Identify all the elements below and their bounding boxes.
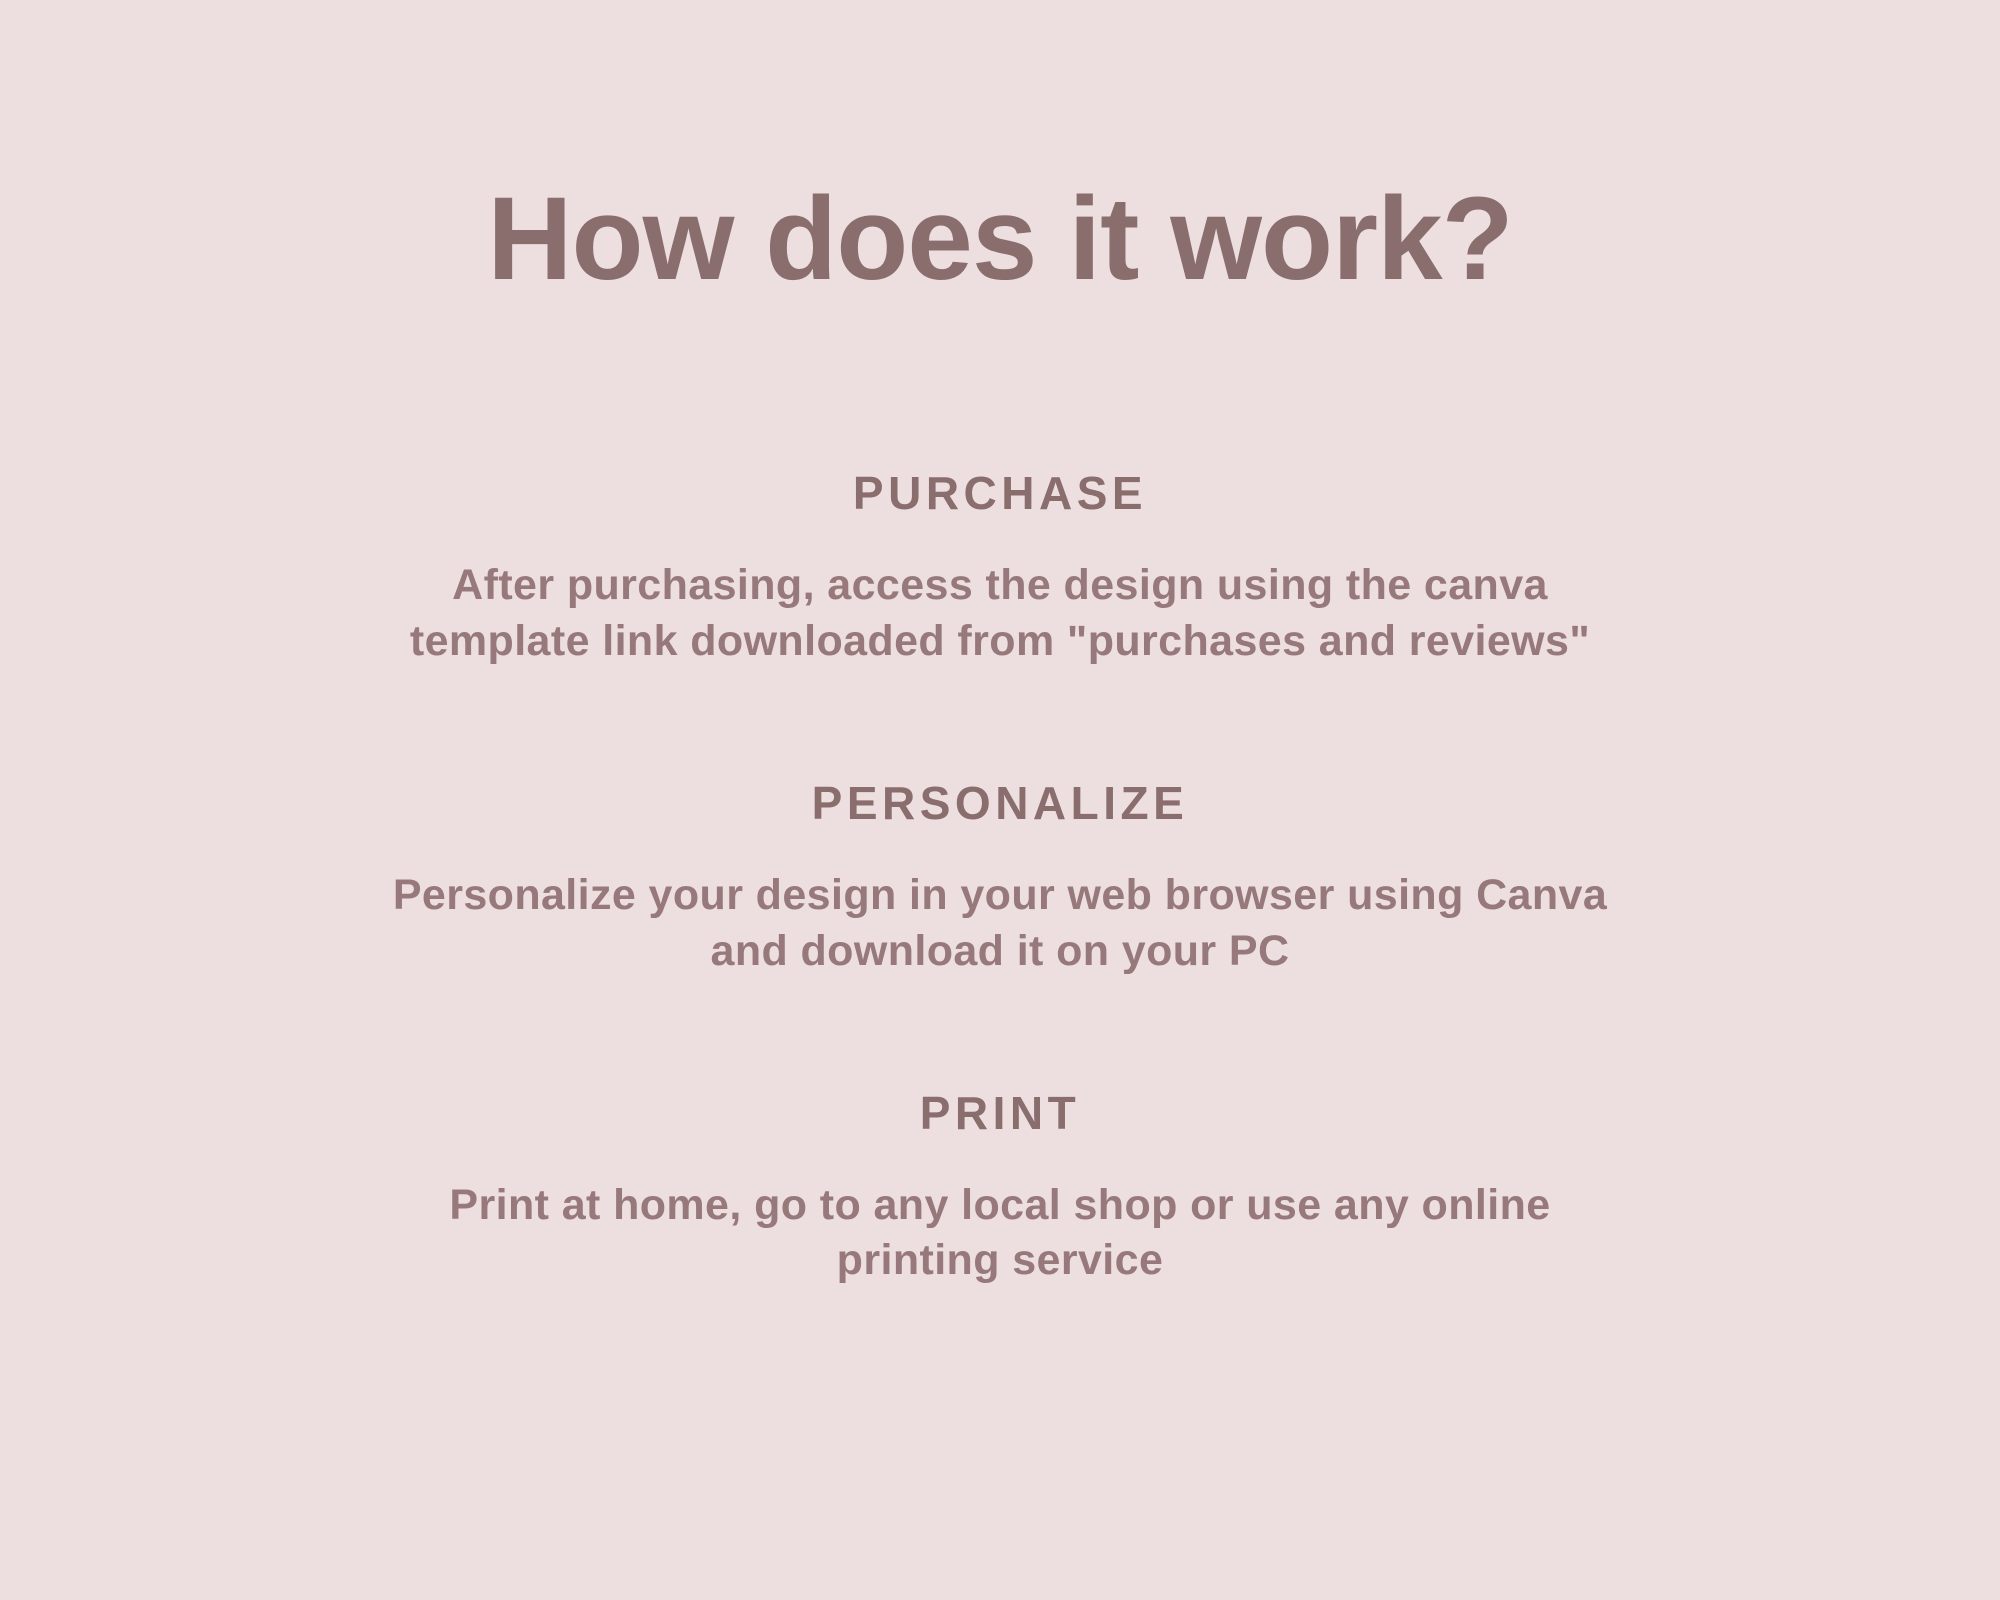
step-purchase: PURCHASE After purchasing, access the de… [0,470,2000,670]
step-body-personalize: Personalize your design in your web brow… [393,868,1607,980]
step-personalize: PERSONALIZE Personalize your design in y… [0,780,2000,980]
step-body-line: After purchasing, access the design usin… [410,558,1590,614]
steps-list: PURCHASE After purchasing, access the de… [0,470,2000,1289]
step-heading-print: PRINT [920,1090,1081,1136]
step-print: PRINT Print at home, go to any local sho… [0,1090,2000,1290]
how-it-works-poster: How does it work? PURCHASE After purchas… [0,0,2000,1600]
step-body-purchase: After purchasing, access the design usin… [410,558,1590,670]
step-heading-purchase: PURCHASE [853,470,1147,516]
step-body-line: template link downloaded from "purchases… [410,614,1590,670]
step-body-line: Print at home, go to any local shop or u… [449,1178,1550,1234]
page-title: How does it work? [0,180,2000,298]
step-body-line: printing service [449,1233,1550,1289]
step-body-print: Print at home, go to any local shop or u… [449,1178,1550,1290]
step-body-line: Personalize your design in your web brow… [393,868,1607,924]
step-heading-personalize: PERSONALIZE [812,780,1189,826]
step-body-line: and download it on your PC [393,924,1607,980]
